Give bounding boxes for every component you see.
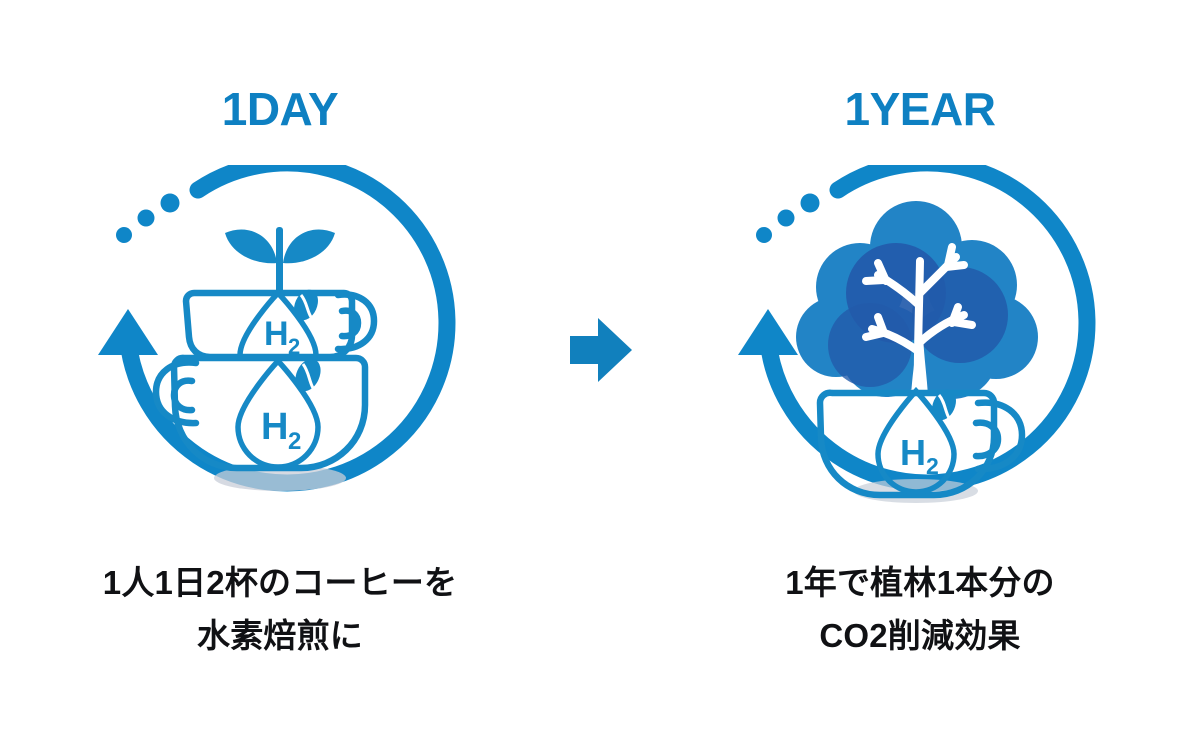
sprout-icon (225, 227, 335, 293)
caption-left-line-1: 1人1日2杯のコーヒーを (20, 556, 540, 609)
panel-one-day: 1DAY (20, 0, 540, 752)
caption-right-line-2: CO2削減効果 (660, 609, 1180, 662)
h2-subscript-top: 2 (288, 334, 300, 359)
caption-right-line-1: 1年で植林1本分の (660, 556, 1180, 609)
h2-label-top: H (264, 315, 289, 353)
cycle-dots-right (756, 194, 820, 244)
panel-title-right: 1YEAR (660, 86, 1180, 132)
caption-left: 1人1日2杯のコーヒーを 水素焙煎に (20, 556, 540, 663)
h2-droplet-badge-bottom: H 2 (238, 355, 325, 467)
panel-one-year: 1YEAR (660, 0, 1180, 752)
h2-label-right: H (900, 432, 926, 473)
transition-arrow (566, 310, 636, 390)
h2-label-bottom: H (261, 406, 288, 448)
icon-stacked-coffee-cups: H 2 H 2 (80, 165, 480, 545)
cycle-dots-left (116, 194, 180, 244)
panel-title-left: 1DAY (20, 86, 540, 132)
caption-left-line-2: 水素焙煎に (20, 609, 540, 662)
infographic-canvas: 1DAY (0, 0, 1200, 752)
h2-subscript-right: 2 (926, 453, 939, 479)
caption-right: 1年で植林1本分の CO2削減効果 (660, 556, 1180, 663)
icon-tree-in-coffee-cup: H 2 (720, 165, 1120, 545)
h2-subscript-bottom: 2 (288, 428, 301, 455)
